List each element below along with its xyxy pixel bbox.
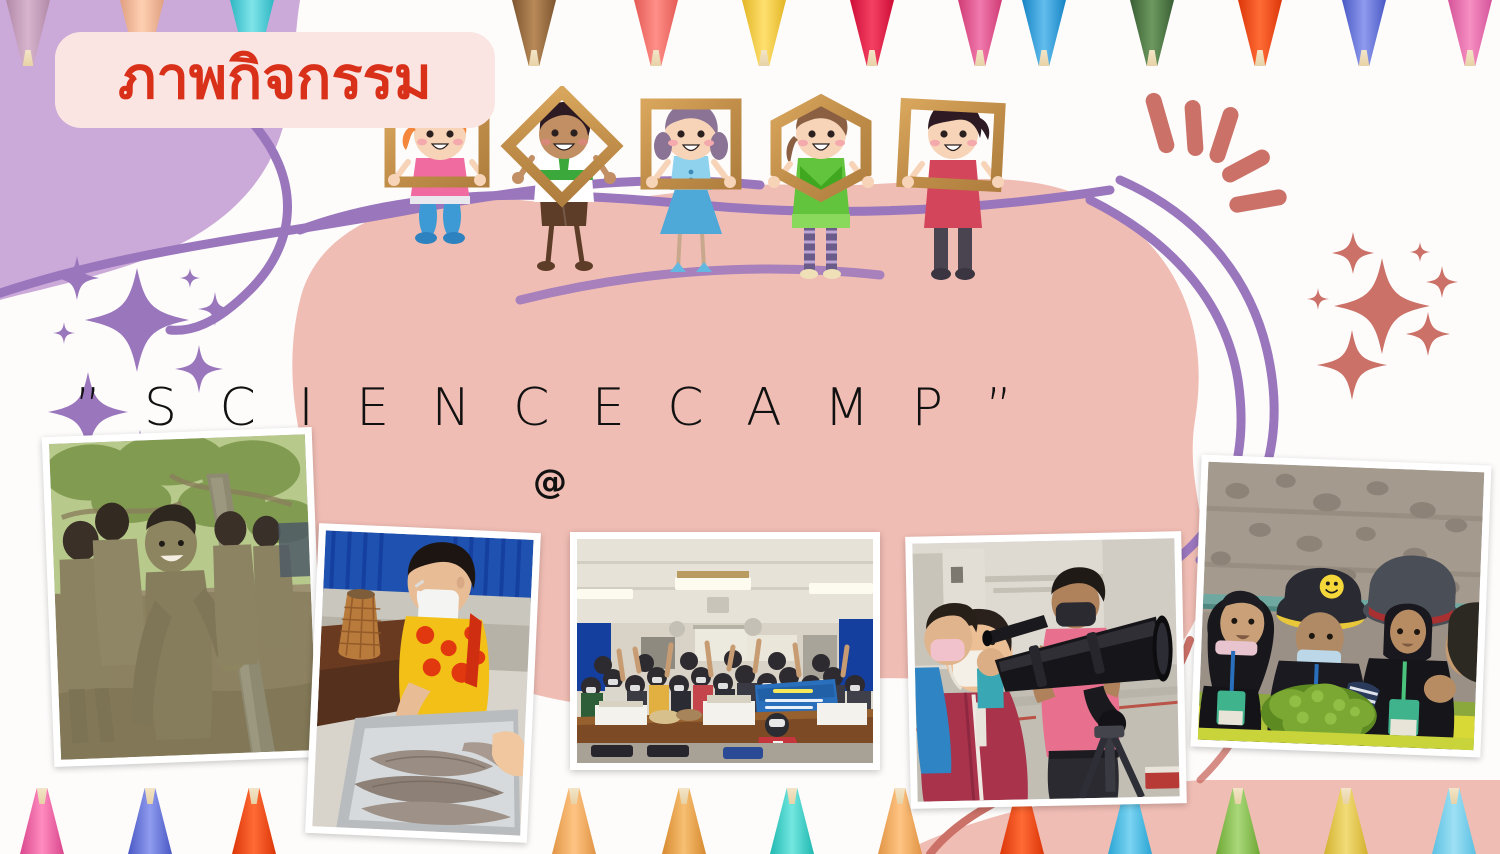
pencil-top-11 [1238,0,1282,66]
pencil-top-1 [6,0,50,66]
pencil-top-7 [850,0,894,66]
sparkle-small-right-icon [1332,232,1374,274]
photo-algae-study[interactable] [1191,455,1492,758]
pencil-row-bottom [0,788,1500,854]
kid-girl-green-top [768,100,874,279]
pencil-bottom-12 [1432,788,1476,854]
poster-canvas: ภาพกิจกรรม [0,0,1500,854]
sparkle-small-right-2-icon [1426,266,1458,298]
pencil-top-5 [634,0,678,66]
photo-telescope-image [912,538,1179,801]
pencil-bottom-4 [552,788,596,854]
sparkle-tiny-left-icon [180,268,200,288]
photo-algae-study-image [1198,462,1484,750]
pencil-bottom-11 [1324,788,1368,854]
sparkle-micro-left-icon [53,322,75,344]
pencil-top-8 [958,0,1002,66]
kid-boy-dark-hair [508,92,616,271]
pencil-top-13 [1448,0,1492,66]
photo-fish-study-image [312,530,533,835]
pencil-top-6 [742,0,786,66]
pencil-bottom-5 [662,788,706,854]
sparkle-small-right-3-icon [1406,312,1450,356]
kid-boy-red-shirt [902,101,1004,280]
pencil-bottom-10 [1216,788,1260,854]
pencil-bottom-3 [232,788,276,854]
pencil-top-12 [1342,0,1386,66]
pencil-bottom-6 [770,788,814,854]
pencil-top-4 [512,0,556,66]
rose-sparkle-group [1307,232,1458,400]
sparkle-large-right-icon [1334,258,1430,354]
photo-telescope[interactable] [905,531,1187,809]
sparkle-medium-right-icon [1317,330,1387,400]
photo-fish-study[interactable] [305,523,541,843]
at-symbol: @ [0,462,1100,502]
sparkle-micro-right-icon [1307,288,1329,310]
kids-svg [380,86,1100,336]
kids-illustration-group [380,86,1100,336]
pencil-top-10 [1130,0,1174,66]
pencil-bottom-2 [128,788,172,854]
burst-rays-icon [1144,91,1288,214]
pencil-top-9 [1022,0,1066,66]
pencil-bottom-1 [20,788,64,854]
kid-girl-blue-dress [646,102,736,272]
sparkle-large-left-icon [85,268,189,372]
striped-leggings [804,226,837,270]
activity-title-text: ภาพกิจกรรม [118,49,432,107]
activity-title-badge: ภาพกิจกรรม [55,32,495,128]
page-title: ” S C I E N C E C A M P ” [0,378,1100,438]
sparkle-tiny-right-icon [1410,242,1430,262]
photo-group-classroom[interactable] [570,532,880,770]
photo-group-classroom-image [577,539,873,763]
